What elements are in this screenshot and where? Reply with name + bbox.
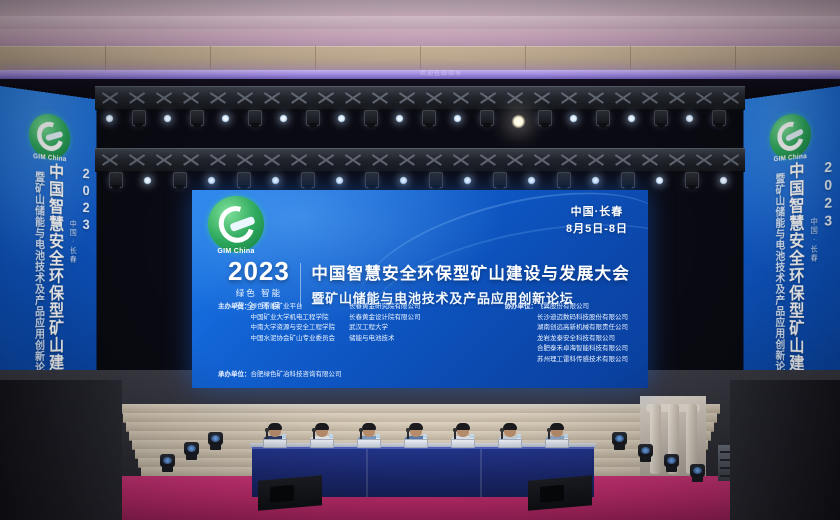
host-item: 武汉工程大学 (349, 323, 421, 334)
truss-brace (317, 88, 335, 106)
truss-brace (587, 88, 605, 106)
truss-brace (317, 150, 335, 168)
event-year: 2023 (228, 258, 290, 284)
truss-brace (479, 150, 497, 168)
truss-brace (155, 88, 173, 106)
event-dates: 8月5日-8日 (566, 221, 628, 238)
main-led-screen: GIM China 中国·长春 8月5日-8日 2023 绿色 智能 安全 环保… (192, 190, 648, 388)
truss-fixture-upper (538, 110, 552, 126)
truss-brace (209, 88, 227, 106)
truss-brace (263, 150, 281, 168)
host-item: 中国矿业大学机电工程学院 (251, 313, 336, 324)
slogan-line-1: 绿色 智能 (228, 287, 290, 300)
stage-monitor-center-left (258, 475, 322, 511)
cohost-list: 飞翼股份有限公司长沙迪迈数码科技股份有限公司湖南创远高新机械有限责任公司龙岩龙泰… (537, 302, 628, 365)
left-banner-year: 2023 (79, 165, 93, 234)
title-text-group: 中国智慧安全环保型矿山建设与发展大会 暨矿山储能与电池技术及产品应用创新论坛 (311, 264, 630, 307)
truss-lamp-lower (399, 176, 408, 185)
cornice-joint (105, 46, 106, 72)
truss-brace (101, 150, 119, 168)
truss-brace (155, 150, 173, 168)
moving-head-light (638, 442, 653, 462)
truss-fixture-upper (422, 110, 436, 126)
truss-brace (695, 88, 713, 106)
host-item: 长春黄金设计院有限公司 (349, 313, 421, 324)
cohost-group: 协办单位： 飞翼股份有限公司长沙迪迈数码科技股份有限公司湖南创远高新机械有限责任… (505, 302, 629, 365)
title-divider (300, 263, 302, 307)
host-item: 中南大学资源与安全工程学院 (251, 323, 336, 334)
truss-brace (128, 88, 146, 106)
truss-lamp-lower (463, 176, 472, 185)
gim-logo-icon: GIM China (208, 196, 264, 252)
truss-fixture-lower (365, 172, 379, 188)
truss-brace (560, 150, 578, 168)
truss-brace (290, 150, 308, 168)
truss-brace (398, 88, 416, 106)
right-banner-year: 2023 (820, 158, 836, 231)
truss-brace (209, 150, 227, 168)
truss-lamp-upper (279, 114, 288, 123)
truss-brace (128, 150, 146, 168)
truss-fixture-lower (493, 172, 507, 188)
name-placard (451, 439, 475, 448)
organizer-label: 承办单位： (218, 370, 251, 381)
truss-fixture-upper (190, 110, 204, 126)
truss-brace (560, 88, 578, 106)
cohost-item: 飞翼股份有限公司 (537, 302, 628, 313)
organizer-item: 合肥绿色矿冶科技咨询有限公司 (251, 370, 342, 381)
name-placard (404, 439, 428, 448)
truss-lamp-upper (105, 114, 114, 123)
truss-lamp-upper (511, 114, 526, 129)
truss-lamp-upper (453, 114, 462, 123)
cohost-item: 长沙迪迈数码科技股份有限公司 (537, 313, 628, 324)
host-column-1: 绿色智能矿业平台中国矿业大学机电工程学院中南大学资源与安全工程学院中国水泥协会矿… (251, 302, 336, 365)
truss-fixture-lower (621, 172, 635, 188)
truss-brace (371, 88, 389, 106)
truss-brace (614, 150, 632, 168)
host-item: 绿色智能矿业平台 (251, 302, 336, 313)
name-placard (263, 439, 287, 448)
truss-brace (641, 150, 659, 168)
cornice-joint (525, 46, 526, 72)
cohost-item: 苏州理工雷科传感技术有限公司 (537, 355, 628, 366)
truss-brace (614, 88, 632, 106)
truss-brace (236, 88, 254, 106)
truss-brace (668, 88, 686, 106)
right-banner-city: 中国·长春 (809, 217, 819, 263)
cohost-item: 合肥泰禾卓海智能科技有限公司 (537, 344, 628, 355)
truss-lamp-upper (163, 114, 172, 123)
truss-brace (533, 150, 551, 168)
truss-lamp-lower (143, 176, 152, 185)
moving-head-light (184, 440, 199, 460)
truss-fixture-upper (480, 110, 494, 126)
moving-head-light (664, 452, 679, 472)
organizer-list: 合肥绿色矿冶科技咨询有限公司 (251, 370, 342, 381)
truss-brace (533, 88, 551, 106)
truss-brace (479, 88, 497, 106)
truss-brace (398, 150, 416, 168)
truss-lamp-upper (395, 114, 404, 123)
truss-brace (182, 150, 200, 168)
event-location: 中国·长春 (566, 204, 628, 221)
cornice-joint (315, 46, 316, 72)
truss-brace (425, 150, 443, 168)
truss-fixture-upper (364, 110, 378, 126)
lighting-truss-assembly (95, 86, 745, 198)
host-item: 中国水泥协会矿山专业委员会 (251, 334, 336, 345)
truss-brace (722, 150, 740, 168)
event-title-main: 中国智慧安全环保型矿山建设与发展大会 (311, 264, 630, 285)
truss-lamp-upper (221, 114, 230, 123)
ceiling-led-strip-text: 欢迎莅临指导 (420, 70, 620, 79)
ceiling-cornice (0, 46, 840, 72)
truss-brace (452, 150, 470, 168)
conference-stage-photo: 欢迎莅临指导 GIM China 2023 中国·长春 中国智慧安全环保型矿山建… (0, 0, 840, 520)
truss-brace (101, 88, 119, 106)
truss-lamp-lower (271, 176, 280, 185)
truss-fixture-lower (557, 172, 571, 188)
host-column-2: 长春黄金研究院有限公司长春黄金设计院有限公司武汉工程大学储能与电池技术 (349, 302, 421, 365)
left-banner-subtitle: 暨矿山储能与电池技术及产品应用创新论坛 (32, 171, 47, 385)
truss-brace (506, 88, 524, 106)
truss-brace (263, 88, 281, 106)
right-banner-subtitle: 暨矿山储能与电池技术及产品应用创新论坛 (772, 173, 786, 384)
cohost-item: 湖南创远高新机械有限责任公司 (537, 323, 628, 334)
host-item: 储能与电池技术 (349, 334, 421, 345)
truss-brace (371, 150, 389, 168)
truss-brace (587, 150, 605, 168)
cornice-joint (735, 46, 736, 72)
moving-head-light (612, 430, 627, 450)
host-item: 长春黄金研究院有限公司 (349, 302, 421, 313)
truss-fixture-upper (712, 110, 726, 126)
right-banner-logo: GIM China (770, 112, 811, 161)
truss-brace (182, 88, 200, 106)
truss-fixture-lower (429, 172, 443, 188)
truss-brace (452, 88, 470, 106)
left-banner-city: 中国·长春 (68, 220, 78, 264)
name-placard (310, 439, 334, 448)
truss-fixture-upper (306, 110, 320, 126)
truss-brace (290, 88, 308, 106)
truss-brace (344, 150, 362, 168)
truss-lamp-lower (207, 176, 216, 185)
ceiling-light-band (0, 16, 840, 29)
left-banner-logo: GIM China (29, 112, 70, 161)
moving-head-light (690, 462, 705, 482)
truss-brace (425, 88, 443, 106)
truss-lamp-upper (685, 114, 694, 123)
left-dark-edge (0, 380, 122, 520)
cohost-label: 协办单位： (505, 302, 538, 365)
truss-lamp-lower (527, 176, 536, 185)
sponsor-block: 主办单位： 绿色智能矿业平台中国矿业大学机电工程学院中南大学资源与安全工程学院中… (218, 302, 628, 381)
cornice-joint (420, 46, 421, 72)
host-group: 主办单位： 绿色智能矿业平台中国矿业大学机电工程学院中南大学资源与安全工程学院中… (218, 302, 335, 365)
moving-head-light (208, 430, 223, 450)
truss-fixture-lower (237, 172, 251, 188)
truss-fixture-lower (301, 172, 315, 188)
truss-lamp-upper (627, 114, 636, 123)
name-placard (498, 439, 522, 448)
truss-brace (344, 88, 362, 106)
truss-brace (695, 150, 713, 168)
name-placard (545, 439, 569, 448)
truss-fixture-lower (109, 172, 123, 188)
truss-brace (668, 150, 686, 168)
truss-fixture-lower (173, 172, 187, 188)
host-label: 主办单位： (218, 302, 251, 365)
gim-logo-text: GIM China (208, 248, 264, 255)
moving-head-light (160, 452, 175, 472)
truss-brace (722, 88, 740, 106)
event-location-block: 中国·长春 8月5日-8日 (566, 204, 628, 238)
name-placard (357, 439, 381, 448)
truss-lamp-lower (591, 176, 600, 185)
truss-lamp-lower (335, 176, 344, 185)
right-dark-edge (730, 380, 840, 520)
truss-brace (641, 88, 659, 106)
truss-fixture-upper (654, 110, 668, 126)
stage-monitor-center-right (528, 475, 592, 511)
truss-fixture-upper (596, 110, 610, 126)
organizer-group: 承办单位： 合肥绿色矿冶科技咨询有限公司 (218, 370, 628, 381)
cornice-joint (210, 46, 211, 72)
truss-brace (236, 150, 254, 168)
truss-lamp-upper (337, 114, 346, 123)
truss-brace (506, 150, 524, 168)
truss-fixture-upper (132, 110, 146, 126)
cornice-joint (630, 46, 631, 72)
cohost-item: 龙岩龙泰安全科技有限公司 (537, 334, 628, 345)
truss-lamp-lower (655, 176, 664, 185)
truss-fixture-upper (248, 110, 262, 126)
truss-fixture-lower (685, 172, 699, 188)
truss-lamp-lower (719, 176, 728, 185)
truss-lamp-upper (569, 114, 578, 123)
